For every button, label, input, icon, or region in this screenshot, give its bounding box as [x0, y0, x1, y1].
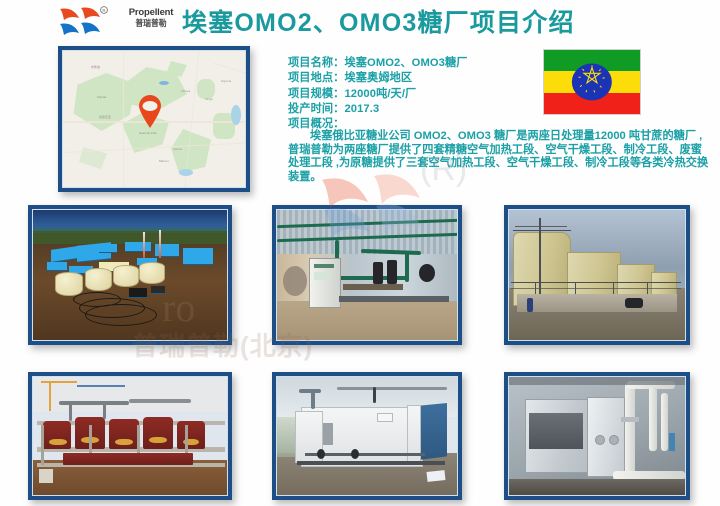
info-value: 2017.3: [344, 103, 379, 115]
map-frame-inner: 布隆迪 Mahale 坦桑尼亚 National Park Tabora Iri…: [62, 50, 246, 188]
photo-raw-sugar-storage-tanks: [504, 205, 690, 345]
info-sep: ：: [333, 118, 344, 130]
project-description: 埃塞俄比亚糖业公司 OMO2、OMO3 糖厂是两座日处理量12000 吨甘蔗的糖…: [288, 130, 713, 184]
info-label: 项目规模: [288, 88, 333, 100]
photo-aerial-sugar-plant: [28, 205, 232, 345]
photo-pump-skid-control-panel: [272, 205, 462, 345]
photo-vessel-installation-site: [28, 372, 232, 500]
project-location-map: 布隆迪 Mahale 坦桑尼亚 National Park Tabora Iri…: [63, 51, 245, 187]
info-sep: ：: [333, 57, 344, 69]
info-label: 项目地点: [288, 72, 333, 84]
brand-lockup: Propellent 普瑞普勒: [120, 8, 182, 29]
info-value: 埃塞奥姆地区: [344, 72, 412, 84]
info-sep: ：: [333, 103, 344, 115]
info-row: 项目地点：埃塞奥姆地区: [288, 71, 538, 86]
info-sep: ：: [333, 72, 344, 84]
photo-stainless-air-heater: [504, 372, 690, 500]
info-row: 项目规模：12000吨/天/厂: [288, 87, 538, 102]
flag-star-icon: [577, 65, 607, 100]
ethiopia-flag: [543, 49, 641, 115]
info-label: 项目概况: [288, 118, 333, 130]
info-value: 埃塞OMO2、OMO3糖厂: [344, 57, 467, 69]
photo-air-handling-unit-white: [272, 372, 462, 500]
page-header: R Propellent 普瑞普勒 埃塞OMO2、OMO3糖厂项目介绍: [0, 0, 720, 46]
info-value: 12000吨/天/厂: [344, 88, 416, 100]
page-title: 埃塞OMO2、OMO3糖厂项目介绍: [182, 3, 575, 39]
project-info-list: 项目名称：埃塞OMO2、OMO3糖厂 项目地点：埃塞奥姆地区 项目规模：1200…: [288, 56, 538, 132]
info-sep: ：: [333, 88, 344, 100]
propellent-wave-logo-icon: R: [56, 6, 110, 40]
map-pin-icon: [137, 95, 163, 129]
info-label: 投产时间: [288, 103, 333, 115]
registered-mark: R: [102, 8, 105, 13]
info-row: 投产时间：2017.3: [288, 102, 538, 117]
map-photo-frame: 布隆迪 Mahale 坦桑尼亚 National Park Tabora Iri…: [58, 46, 250, 192]
info-row: 项目名称：埃塞OMO2、OMO3糖厂: [288, 56, 538, 71]
info-label: 项目名称: [288, 57, 333, 69]
brand-name-cn: 普瑞普勒: [122, 19, 179, 29]
